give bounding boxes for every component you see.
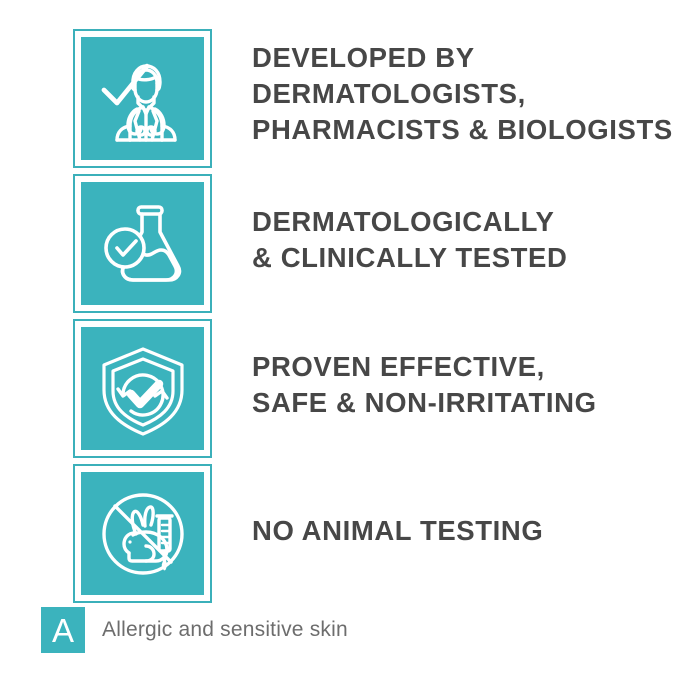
feature-icon-tile	[73, 29, 212, 168]
feature-label: DERMATOLOGICALLY & CLINICALLY TESTED	[252, 204, 567, 276]
no-animal-testing-icon	[81, 472, 204, 595]
feature-row: NO ANIMAL TESTING	[0, 464, 679, 603]
skin-type-footer: A Allergic and sensitive skin	[41, 607, 348, 653]
feature-row: DEVELOPED BY DERMATOLOGISTS, PHARMACISTS…	[0, 29, 679, 168]
shield-check-icon	[81, 327, 204, 450]
footer-caption: Allergic and sensitive skin	[102, 618, 348, 642]
feature-label: PROVEN EFFECTIVE, SAFE & NON-IRRITATING	[252, 349, 597, 421]
feature-icon-tile	[73, 319, 212, 458]
feature-label: NO ANIMAL TESTING	[252, 513, 543, 549]
feature-label: DEVELOPED BY DERMATOLOGISTS, PHARMACISTS…	[252, 40, 673, 147]
allergic-skin-badge: A	[41, 607, 85, 653]
feature-claims-panel: DEVELOPED BY DERMATOLOGISTS, PHARMACISTS…	[0, 0, 679, 679]
flask-check-icon	[81, 182, 204, 305]
feature-icon-tile	[73, 464, 212, 603]
feature-row: PROVEN EFFECTIVE, SAFE & NON-IRRITATING	[0, 319, 679, 458]
feature-row: DERMATOLOGICALLY & CLINICALLY TESTED	[0, 174, 679, 313]
doctor-check-icon	[81, 37, 204, 160]
feature-icon-tile	[73, 174, 212, 313]
